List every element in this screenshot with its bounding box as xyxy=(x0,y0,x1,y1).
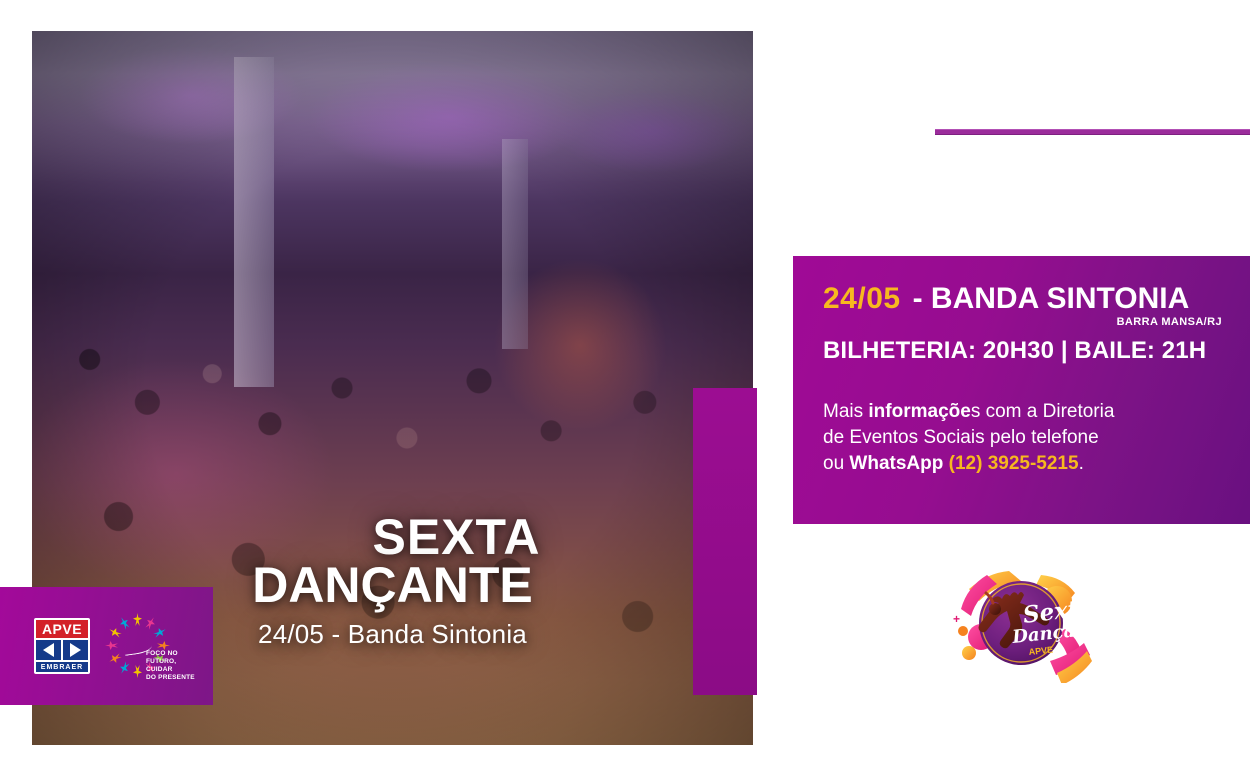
emblem-person-icon xyxy=(133,665,142,678)
apve-embraer-logo: APVE EMBRAER xyxy=(34,618,90,674)
contact-period: . xyxy=(1079,453,1084,474)
sexta-dancante-badge-graphic: Sexta Dançante APVE + xyxy=(945,565,1095,683)
headline-line-1: SEXTA xyxy=(46,512,739,562)
arrow-left-icon xyxy=(43,643,54,657)
contact-1-plain-b: s com a Diretoria xyxy=(971,401,1115,422)
contact-phone-number[interactable]: (12) 3925-5215 xyxy=(949,453,1079,474)
contact-line-2: de Eventos Sociais pelo telefone xyxy=(823,425,1224,451)
contact-block: Mais informações com a Diretoria de Even… xyxy=(823,399,1224,478)
event-schedule: BILHETERIA: 20H30 | BAILE: 21H xyxy=(823,337,1224,365)
emblem-tagline-line-3: DO PRESENTE xyxy=(146,674,200,682)
arrow-right-icon xyxy=(70,643,81,657)
embraer-logo-text: EMBRAER xyxy=(36,662,88,672)
badge-title-1: Sexta xyxy=(945,683,946,684)
foco-no-futuro-emblem: FOCO NO FUTURO, CUIDAR DO PRESENTE xyxy=(102,610,194,682)
emblem-person-icon xyxy=(157,641,170,650)
badge-title-3: APVE xyxy=(945,683,946,684)
photo-accent-slab xyxy=(693,388,757,695)
contact-line-1: Mais informações com a Diretoria xyxy=(823,399,1224,425)
apve-arrow-left-box xyxy=(36,640,61,660)
sponsor-bar: APVE EMBRAER FOCO NO FUTURO, CUIDAR DO P… xyxy=(0,587,213,705)
event-info-panel: 24/05 - BANDA SINTONIA BARRA MANSA/RJ BI… xyxy=(793,256,1250,524)
emblem-tagline-line-1: FOCO NO xyxy=(146,650,200,658)
event-title-row: 24/05 - BANDA SINTONIA xyxy=(823,284,1224,314)
emblem-person-icon xyxy=(117,615,131,631)
emblem-person-icon xyxy=(152,625,168,639)
contact-1-bold: informaçõe xyxy=(868,401,970,422)
emblem-person-icon xyxy=(107,625,123,639)
whatsapp-label: WhatsApp xyxy=(849,453,943,474)
contact-3-plain: ou xyxy=(823,453,849,474)
event-date: 24/05 xyxy=(823,284,901,314)
band-label: BANDA SINTONIA xyxy=(931,282,1189,315)
event-band-name: - BANDA SINTONIA xyxy=(913,284,1190,314)
contact-line-3: ou WhatsApp (12) 3925-5215. xyxy=(823,451,1224,477)
svg-text:APVE: APVE xyxy=(1028,644,1053,657)
sexta-dancante-badge: Sexta Dançante APVE + Sexta Dançante APV… xyxy=(945,565,1095,683)
contact-1-plain-a: Mais xyxy=(823,401,868,422)
apve-logo-text: APVE xyxy=(36,620,88,638)
poster-canvas: SEXTA DANÇANTE 24/05 - Banda Sintonia AP… xyxy=(0,0,1250,781)
emblem-person-icon xyxy=(105,641,118,650)
apve-arrow-right-box xyxy=(63,640,88,660)
emblem-person-icon xyxy=(133,613,142,626)
apve-arrows xyxy=(36,640,88,660)
title-separator: - xyxy=(913,282,923,315)
emblem-person-icon xyxy=(143,615,157,631)
emblem-person-icon xyxy=(107,651,123,665)
top-divider xyxy=(935,129,1250,135)
emblem-tagline-line-2: FUTURO, CUIDAR xyxy=(146,658,200,674)
emblem-person-icon xyxy=(117,660,131,676)
svg-text:+: + xyxy=(953,612,960,626)
emblem-tagline: FOCO NO FUTURO, CUIDAR DO PRESENTE xyxy=(146,650,200,683)
badge-title-2: Dançante xyxy=(945,683,946,684)
event-city: BARRA MANSA/RJ xyxy=(823,316,1224,328)
